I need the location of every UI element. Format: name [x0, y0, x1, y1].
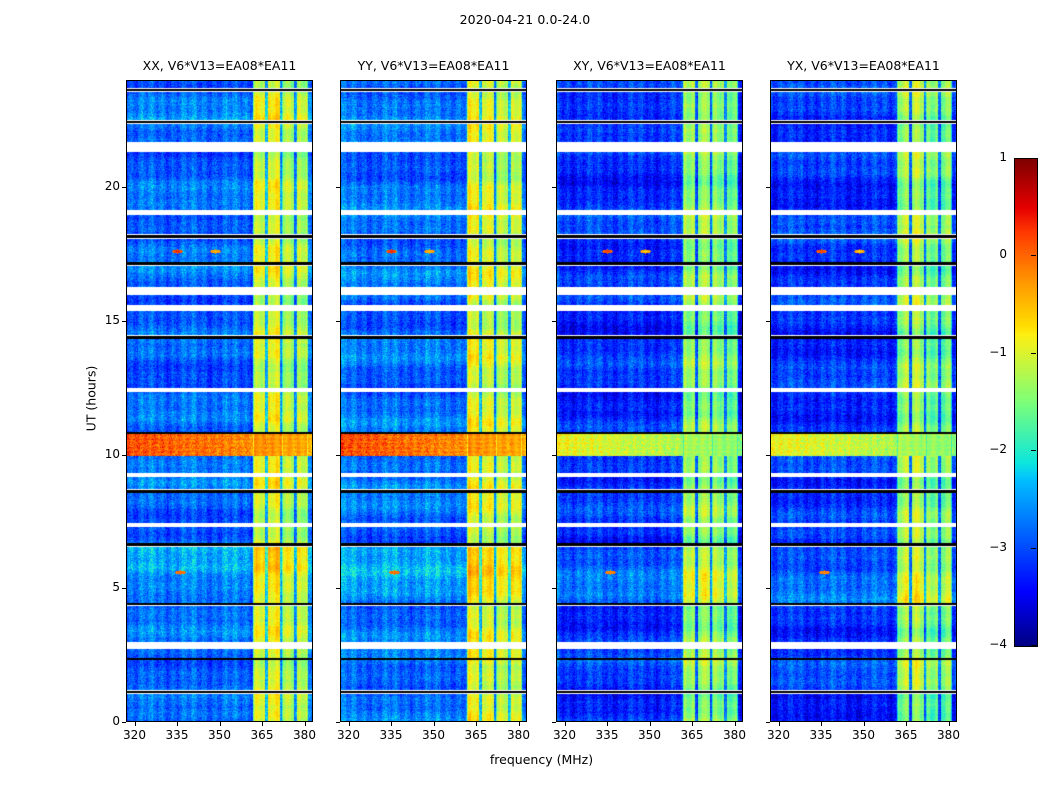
y-tick-mark: [552, 187, 556, 188]
panel-yy: YY, V6*V13=EA08*EA11 320335350365380: [340, 80, 527, 722]
y-tick-mark: [766, 722, 770, 723]
y-tick-mark: [336, 321, 340, 322]
colorbar-gradient: [1014, 158, 1038, 647]
x-tick-label: 320: [767, 728, 790, 742]
y-tick-mark: [336, 455, 340, 456]
y-tick-mark: [766, 187, 770, 188]
panel-title-yx: YX, V6*V13=EA08*EA11: [770, 58, 957, 73]
x-tick-mark: [565, 722, 566, 726]
x-tick-mark: [607, 722, 608, 726]
panel-title-yy: YY, V6*V13=EA08*EA11: [340, 58, 527, 73]
colorbar-tick-mark: [1031, 255, 1036, 256]
x-tick-mark: [135, 722, 136, 726]
x-tick-mark: [476, 722, 477, 726]
axes-frame-yx: [770, 80, 957, 722]
x-tick-mark: [821, 722, 822, 726]
y-tick-mark: [766, 321, 770, 322]
x-tick-label: 335: [166, 728, 189, 742]
x-tick-label: 320: [123, 728, 146, 742]
colorbar-tick-mark: [1031, 548, 1036, 549]
y-tick-mark: [336, 187, 340, 188]
panel-xy: XY, V6*V13=EA08*EA11 320335350365380: [556, 80, 743, 722]
x-tick-label: 365: [895, 728, 918, 742]
x-tick-mark: [906, 722, 907, 726]
y-tick-mark: [336, 588, 340, 589]
y-tick-mark: [766, 588, 770, 589]
y-tick-mark: [766, 455, 770, 456]
x-tick-mark: [735, 722, 736, 726]
axes-frame-xx: [126, 80, 313, 722]
y-tick-mark: [122, 187, 126, 188]
colorbar-tick-label: 1: [999, 150, 1007, 164]
y-tick-mark: [552, 722, 556, 723]
x-tick-label: 335: [380, 728, 403, 742]
y-tick-label: 10: [105, 447, 120, 461]
x-tick-label: 365: [681, 728, 704, 742]
colorbar-tick-mark: [1031, 645, 1036, 646]
y-axis-label: UT (hours): [84, 339, 99, 459]
x-tick-label: 350: [422, 728, 445, 742]
y-tick-mark: [122, 722, 126, 723]
y-tick-mark: [122, 588, 126, 589]
axes-frame-yy: [340, 80, 527, 722]
y-tick-label: 0: [112, 714, 120, 728]
x-tick-label: 380: [293, 728, 316, 742]
x-tick-label: 365: [251, 728, 274, 742]
x-tick-label: 350: [208, 728, 231, 742]
x-tick-label: 380: [507, 728, 530, 742]
x-tick-label: 335: [810, 728, 833, 742]
colorbar-tick-label: −4: [989, 637, 1007, 651]
y-tick-mark: [336, 722, 340, 723]
x-tick-mark: [949, 722, 950, 726]
x-tick-label: 350: [638, 728, 661, 742]
panel-title-xy: XY, V6*V13=EA08*EA11: [556, 58, 743, 73]
panel-xx: XX, V6*V13=EA08*EA11 0510152032033535036…: [126, 80, 313, 722]
colorbar-tick-label: −1: [989, 345, 1007, 359]
x-tick-mark: [434, 722, 435, 726]
x-tick-label: 320: [553, 728, 576, 742]
colorbar-tick-label: −3: [989, 540, 1007, 554]
colorbar-tick-label: 0: [999, 247, 1007, 261]
x-tick-label: 365: [465, 728, 488, 742]
panel-title-xx: XX, V6*V13=EA08*EA11: [126, 58, 313, 73]
colorbar-tick-label: −2: [989, 442, 1007, 456]
y-tick-mark: [122, 321, 126, 322]
x-axis-label: frequency (MHz): [126, 752, 957, 767]
y-tick-mark: [122, 455, 126, 456]
x-tick-mark: [220, 722, 221, 726]
x-tick-label: 335: [596, 728, 619, 742]
x-tick-mark: [864, 722, 865, 726]
y-tick-label: 5: [112, 580, 120, 594]
figure-canvas: 2020-04-21 0.0-24.0 XX, V6*V13=EA08*EA11…: [0, 0, 1050, 800]
x-tick-label: 350: [852, 728, 875, 742]
colorbar: −4−3−2−101: [1014, 158, 1036, 645]
x-tick-label: 320: [337, 728, 360, 742]
colorbar-tick-mark: [1031, 353, 1036, 354]
y-tick-mark: [552, 588, 556, 589]
x-tick-mark: [779, 722, 780, 726]
colorbar-tick-mark: [1031, 158, 1036, 159]
x-tick-mark: [305, 722, 306, 726]
x-tick-mark: [650, 722, 651, 726]
x-tick-label: 380: [937, 728, 960, 742]
x-tick-label: 380: [723, 728, 746, 742]
y-tick-label: 20: [105, 179, 120, 193]
axes-frame-xy: [556, 80, 743, 722]
y-tick-mark: [552, 455, 556, 456]
x-tick-mark: [519, 722, 520, 726]
x-tick-mark: [262, 722, 263, 726]
figure-suptitle: 2020-04-21 0.0-24.0: [0, 12, 1050, 27]
colorbar-tick-mark: [1031, 450, 1036, 451]
x-tick-mark: [391, 722, 392, 726]
y-tick-label: 15: [105, 313, 120, 327]
x-tick-mark: [177, 722, 178, 726]
x-tick-mark: [692, 722, 693, 726]
y-tick-mark: [552, 321, 556, 322]
panel-yx: YX, V6*V13=EA08*EA11 320335350365380: [770, 80, 957, 722]
x-tick-mark: [349, 722, 350, 726]
